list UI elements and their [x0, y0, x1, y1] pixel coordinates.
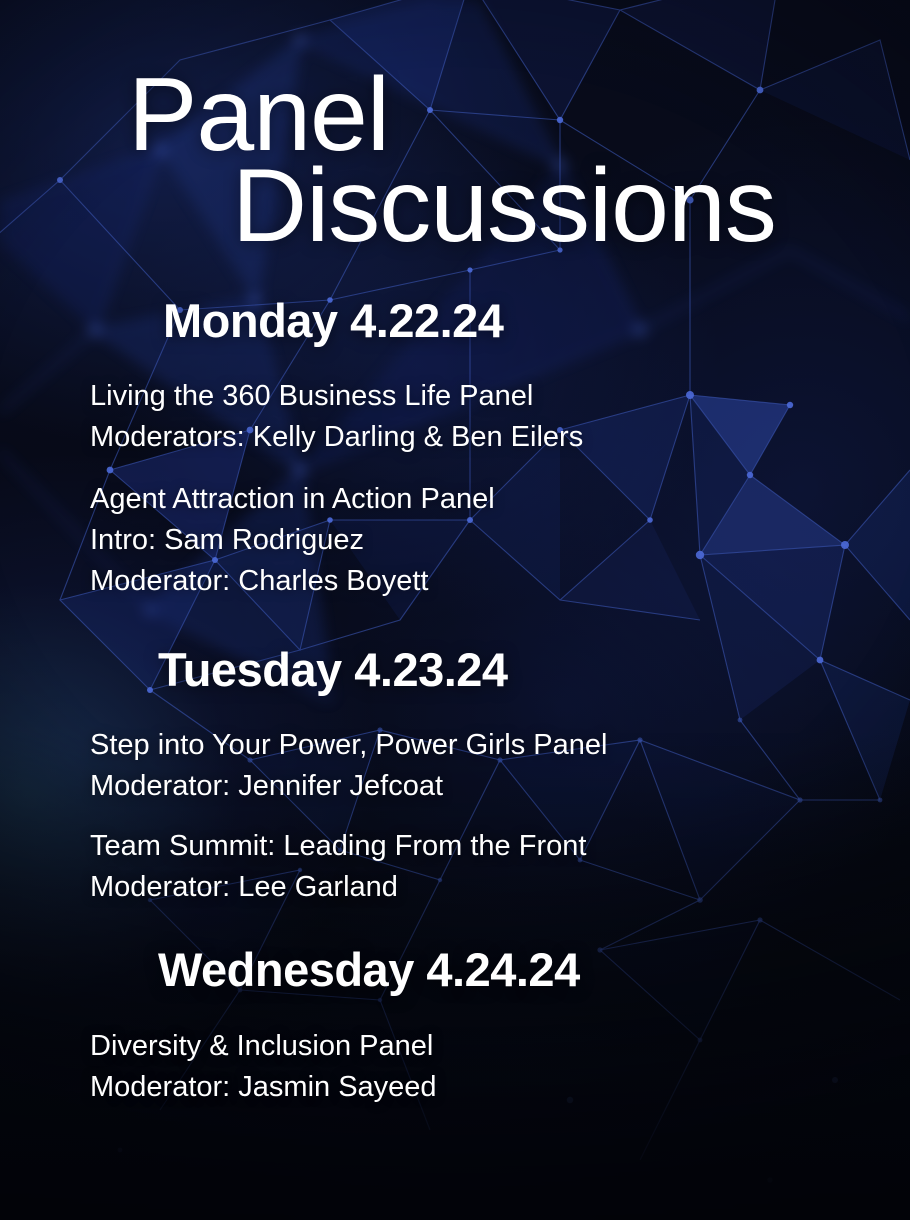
panel-discussions-poster: Panel Discussions Monday 4.22.24 Living … [0, 0, 910, 1220]
session-title: Agent Attraction in Action Panel [90, 479, 495, 520]
session-moderator: Moderator: Jasmin Sayeed [90, 1067, 437, 1108]
poster-content: Panel Discussions Monday 4.22.24 Living … [0, 0, 910, 1220]
session-title: Team Summit: Leading From the Front [90, 826, 586, 867]
session-diversity-and-inclusion-panel: Diversity & Inclusion Panel Moderator: J… [90, 1026, 437, 1108]
day-heading-wednesday: Wednesday 4.24.24 [158, 946, 580, 993]
session-agent-attraction-in-action-panel: Agent Attraction in Action Panel Intro: … [90, 479, 495, 602]
session-intro: Intro: Sam Rodriguez [90, 520, 495, 561]
session-step-into-your-power-power-girls-panel: Step into Your Power, Power Girls Panel … [90, 725, 607, 807]
day-heading-tuesday: Tuesday 4.23.24 [158, 646, 508, 693]
session-living-the-360-business-life-panel: Living the 360 Business Life Panel Moder… [90, 376, 583, 458]
session-team-summit-leading-from-the-front: Team Summit: Leading From the Front Mode… [90, 826, 586, 908]
session-title: Diversity & Inclusion Panel [90, 1026, 437, 1067]
session-moderators: Moderators: Kelly Darling & Ben Eilers [90, 417, 583, 458]
session-moderator: Moderator: Charles Boyett [90, 561, 495, 602]
session-title: Living the 360 Business Life Panel [90, 376, 583, 417]
session-moderator: Moderator: Jennifer Jefcoat [90, 766, 607, 807]
session-moderator: Moderator: Lee Garland [90, 867, 586, 908]
poster-title-line-2: Discussions [232, 154, 776, 258]
session-title: Step into Your Power, Power Girls Panel [90, 725, 607, 766]
day-heading-monday: Monday 4.22.24 [163, 297, 503, 344]
